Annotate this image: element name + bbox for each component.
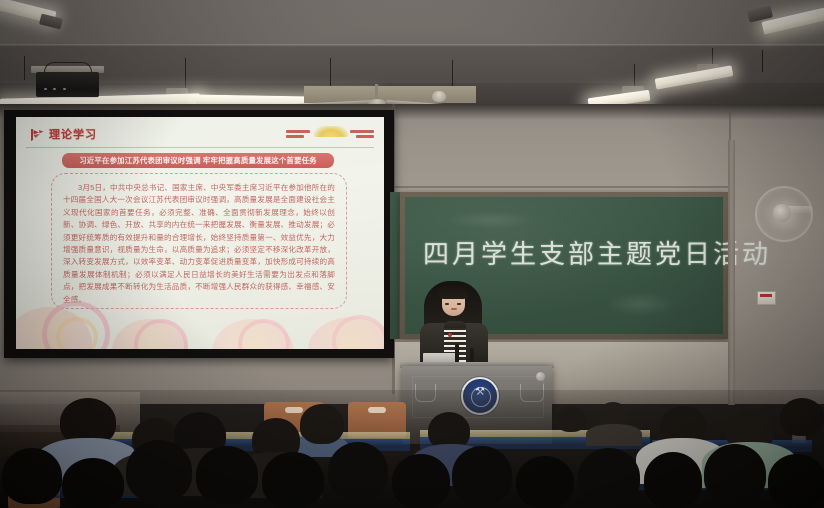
- blackboard-chalk-text: 四月学生支部主题党日活动: [423, 234, 771, 271]
- chair-handle-slot: [285, 407, 303, 413]
- presenter-eye: [445, 303, 449, 305]
- great-hall-arch-icon: [314, 126, 348, 137]
- audience-head: [644, 452, 702, 508]
- projector-led: [44, 88, 47, 90]
- audience-head: [704, 444, 766, 504]
- light-wire: [762, 50, 763, 72]
- slide-bottom-decoration: [16, 287, 384, 349]
- ceiling: [0, 0, 824, 108]
- presenter-collar: [444, 321, 466, 328]
- light-wire: [185, 58, 186, 90]
- wall-fan-hub: [773, 204, 791, 222]
- audience-shoulders: [586, 424, 642, 446]
- ceiling-projector: [36, 72, 99, 97]
- cpc-party-emblem-icon: [29, 127, 45, 143]
- audience-head: [452, 446, 512, 504]
- ceiling-soffit: [0, 0, 824, 46]
- audience-head: [392, 454, 450, 508]
- audience-head: [262, 452, 324, 508]
- wall-seam: [395, 186, 729, 188]
- switch-indicator: [760, 294, 772, 297]
- podium-knob[interactable]: [536, 372, 545, 381]
- deco-bar: [286, 135, 304, 138]
- audience-head: [578, 448, 640, 506]
- classroom-scene: 理论学习 习近平在参加江苏代表团审议时强调 牢牢把握高质量发展这个首要任务 3月…: [0, 0, 824, 508]
- fan-rod: [375, 84, 378, 100]
- presenter-mouth: [451, 308, 457, 310]
- slide-header-decoration: [286, 125, 374, 141]
- projector-power-wire: [24, 56, 25, 80]
- audience-head: [62, 458, 124, 508]
- chair-handle-slot: [368, 407, 386, 413]
- audience-head: [196, 446, 258, 504]
- swirl-shape: [56, 317, 98, 349]
- audience-head: [2, 448, 62, 504]
- audience-head: [516, 456, 574, 508]
- audience-head: [126, 440, 192, 502]
- deco-bar: [286, 130, 310, 133]
- projection-screen[interactable]: 理论学习 习近平在参加江苏代表团审议时强调 牢牢把握高质量发展这个首要任务 3月…: [16, 117, 384, 349]
- deco-bar: [350, 130, 374, 133]
- audience-head: [556, 406, 586, 432]
- slide-banner-title: 习近平在参加江苏代表团审议时强调 牢牢把握高质量发展这个首要任务: [62, 153, 334, 168]
- projector-led: [53, 88, 56, 90]
- chalk-smudge: [605, 292, 675, 316]
- audience-area: [0, 390, 824, 508]
- ceiling-smoke-detector-icon: [432, 91, 446, 102]
- projector-led: [63, 88, 66, 90]
- slide-header-title: 理论学习: [49, 126, 97, 142]
- wall-pillar: [728, 140, 735, 405]
- slide-header-rule: [26, 147, 374, 148]
- presenter-eye: [457, 303, 461, 305]
- audience-head: [780, 398, 824, 436]
- projection-screen-frame: 理论学习 习近平在参加江苏代表团审议时强调 牢牢把握高质量发展这个首要任务 3月…: [4, 110, 394, 358]
- audience-head: [768, 454, 824, 508]
- chalk-smudge: [445, 211, 535, 229]
- projector-cable: [44, 62, 92, 72]
- presenter-fringe: [439, 284, 468, 299]
- presenter-badge-pin: [448, 333, 452, 337]
- audience-head: [328, 442, 388, 500]
- audience-head: [300, 404, 344, 444]
- light-switch-plate[interactable]: [757, 291, 776, 305]
- light-wire: [634, 64, 635, 88]
- deco-bar: [356, 135, 374, 138]
